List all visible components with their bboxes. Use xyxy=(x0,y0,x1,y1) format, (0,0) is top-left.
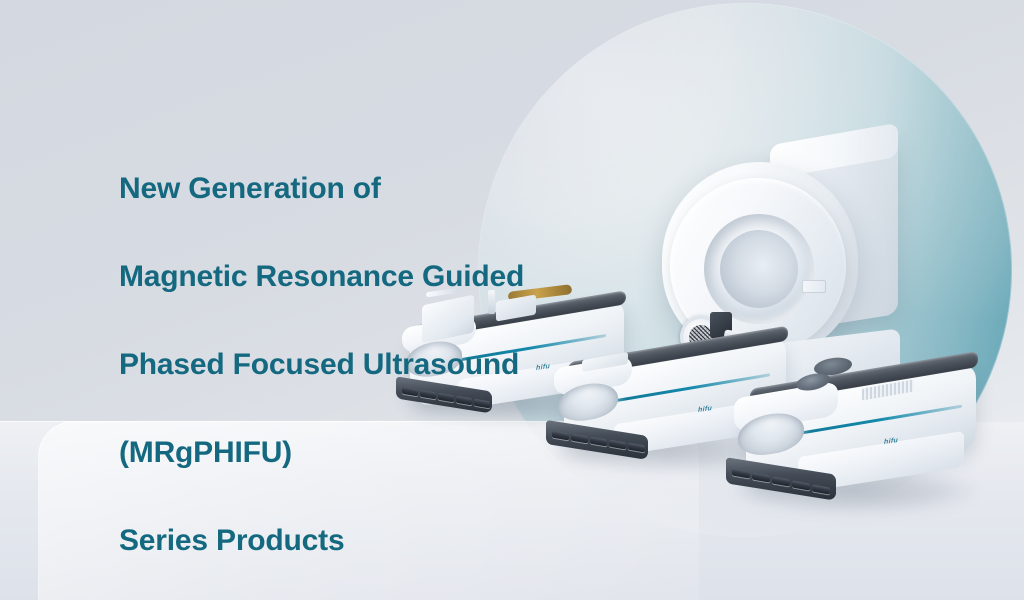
headline-line-2: Magnetic Resonance Guided xyxy=(119,255,679,299)
device-treatment-table-front: hifu xyxy=(722,348,990,516)
headline-line-4: (MRgPHIFU) xyxy=(119,431,679,475)
headline-line-3: Phased Focused Ultrasound xyxy=(119,343,679,387)
banner-headline: New Generation of Magnetic Resonance Gui… xyxy=(119,123,679,600)
scanner-bore-inner xyxy=(720,230,798,308)
product-hero-banner: hifu xyxy=(0,0,1024,600)
scanner-nameplate xyxy=(802,280,826,293)
headline-line-1: New Generation of xyxy=(119,167,679,211)
step-grate xyxy=(726,464,838,504)
headline-line-5: Series Products xyxy=(119,519,679,563)
